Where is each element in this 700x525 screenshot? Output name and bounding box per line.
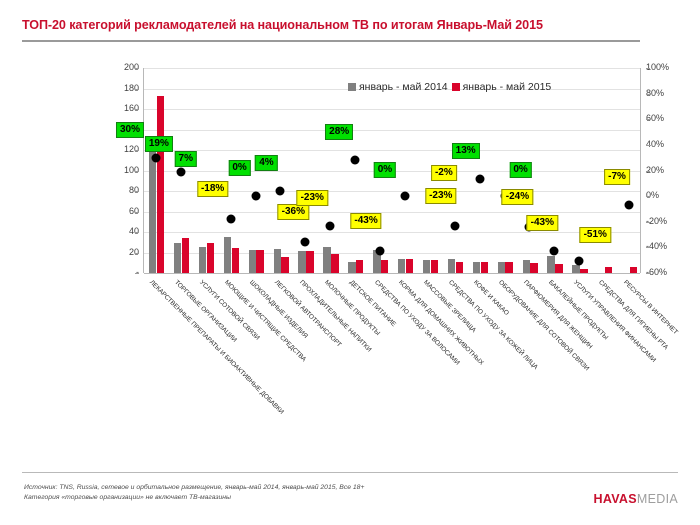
bar-cur bbox=[530, 263, 537, 273]
y2-axis-tick bbox=[646, 222, 650, 223]
bar-cur bbox=[505, 262, 512, 273]
y-axis-tick-label: 40 bbox=[99, 226, 139, 236]
bar-cur bbox=[182, 238, 189, 273]
growth-marker bbox=[226, 215, 235, 224]
y2-axis-tick bbox=[646, 145, 650, 146]
bar-prev bbox=[523, 260, 530, 273]
legend-swatch-2015 bbox=[452, 83, 460, 91]
bar-cur bbox=[356, 260, 363, 273]
bar-prev bbox=[423, 260, 430, 273]
y-axis-tick bbox=[135, 191, 139, 192]
y-axis-tick bbox=[135, 171, 139, 172]
legend-label-2014: январь - май 2014 bbox=[359, 81, 448, 93]
x-axis-label: ОБОРУДОВАНИЕ ДЛЯ СОТОВОЙ СВЯЗИ bbox=[497, 279, 590, 372]
y-axis-tick-label: 100 bbox=[99, 165, 139, 175]
growth-callout: 0% bbox=[509, 162, 531, 178]
bar-prev bbox=[274, 249, 281, 273]
y-axis-tick bbox=[135, 212, 139, 213]
growth-marker bbox=[575, 257, 584, 266]
bar-cur bbox=[481, 262, 488, 273]
x-axis-label: КОРМА ДЛЯ ДОМАШНИХ ЖИВОТНЫХ bbox=[397, 279, 485, 367]
x-axis-labels: ЛЕКАРСТВЕННЫЕ ПРЕПАРАТЫ И БИОАКТИВНЫЕ ДО… bbox=[0, 273, 700, 463]
growth-marker bbox=[276, 187, 285, 196]
growth-marker bbox=[376, 247, 385, 256]
page-title: ТОП-20 категорий рекламодателей на нацио… bbox=[22, 18, 672, 32]
growth-marker bbox=[301, 238, 310, 247]
bar-cur bbox=[381, 260, 388, 273]
y2-axis-tick-label: -40% bbox=[646, 241, 690, 251]
source-note: Источник: TNS, Russia, сетевое и орбитал… bbox=[24, 483, 584, 503]
footer-divider bbox=[22, 472, 678, 473]
bar-prev bbox=[398, 259, 405, 273]
y2-axis-tick bbox=[646, 196, 650, 197]
growth-marker bbox=[176, 167, 185, 176]
y-axis-tick-label: 20 bbox=[99, 247, 139, 257]
growth-callout: 28% bbox=[325, 124, 353, 140]
growth-callout: -43% bbox=[350, 213, 381, 229]
bar-cur bbox=[456, 262, 463, 273]
growth-callout: -51% bbox=[580, 227, 611, 243]
y2-axis-tick-label: 60% bbox=[646, 113, 690, 123]
y2-axis-tick bbox=[646, 247, 650, 248]
growth-callout: 7% bbox=[175, 151, 197, 167]
bar-cur bbox=[281, 257, 288, 273]
gridline bbox=[144, 68, 640, 69]
source-line-2: Категория «торговые организации» не вклю… bbox=[24, 493, 584, 503]
growth-marker bbox=[550, 247, 559, 256]
bar-cur bbox=[555, 264, 562, 273]
bar-cur bbox=[157, 96, 164, 273]
gridline bbox=[144, 232, 640, 233]
gridline bbox=[144, 130, 640, 131]
bar-prev bbox=[174, 243, 181, 273]
bar-cur bbox=[331, 254, 338, 273]
growth-marker bbox=[625, 201, 634, 210]
growth-callout: -23% bbox=[297, 190, 328, 206]
logo-havas: HAVAS bbox=[594, 492, 637, 506]
bar-prev bbox=[572, 265, 579, 273]
y-axis-tick bbox=[135, 150, 139, 151]
legend-item-2015: январь - май 2015 bbox=[452, 81, 552, 93]
y2-axis-tick bbox=[646, 171, 650, 172]
growth-callout: 0% bbox=[228, 160, 250, 176]
y-axis-tick bbox=[135, 253, 139, 254]
growth-callout: -7% bbox=[604, 169, 630, 185]
y-axis-right: 100%80%60%40%20%0%-20%-40%-60% bbox=[646, 68, 694, 273]
gridline bbox=[144, 253, 640, 254]
y-axis-tick-label: 60 bbox=[99, 206, 139, 216]
bar-prev bbox=[473, 262, 480, 273]
bar-cur bbox=[256, 250, 263, 273]
havas-media-logo: HAVASMEDIA bbox=[594, 492, 679, 506]
growth-callout: 19% bbox=[145, 136, 173, 152]
x-axis-label: СРЕДСТВА ПО УХОДУ ЗА ВОЛОСАМИ bbox=[373, 279, 461, 367]
y-axis-tick-label: 160 bbox=[99, 103, 139, 113]
bar-cur bbox=[207, 243, 214, 273]
growth-callout: -43% bbox=[527, 215, 558, 231]
logo-media: MEDIA bbox=[637, 492, 678, 506]
y2-axis-tick bbox=[646, 94, 650, 95]
bar-cur bbox=[306, 251, 313, 273]
legend-label-2015: январь - май 2015 bbox=[463, 81, 552, 93]
legend-swatch-2014 bbox=[348, 83, 356, 91]
y-axis-tick bbox=[135, 232, 139, 233]
growth-callout: -18% bbox=[197, 181, 228, 197]
bar-prev bbox=[498, 262, 505, 273]
bar-cur bbox=[232, 248, 239, 273]
x-axis-label: СРЕДСТВА ПО УХОДУ ЗА КОЖЕЙ ЛИЦА bbox=[447, 279, 539, 371]
growth-marker bbox=[151, 153, 160, 162]
growth-marker bbox=[351, 156, 360, 165]
gridline bbox=[144, 150, 640, 151]
growth-callout: 4% bbox=[255, 155, 277, 171]
growth-callout: 13% bbox=[452, 143, 480, 159]
growth-marker bbox=[450, 221, 459, 230]
growth-callout: -36% bbox=[278, 204, 309, 220]
bar-prev bbox=[199, 247, 206, 273]
y-axis-tick bbox=[135, 68, 139, 69]
y-axis-tick-label: 120 bbox=[99, 144, 139, 154]
y2-axis-tick-label: -20% bbox=[646, 216, 690, 226]
growth-marker bbox=[475, 175, 484, 184]
bar-prev bbox=[448, 259, 455, 273]
bar-cur bbox=[406, 259, 413, 273]
chart-legend: январь - май 2014 январь - май 2015 bbox=[348, 81, 551, 93]
growth-callout: 0% bbox=[374, 162, 396, 178]
growth-callout: -24% bbox=[502, 189, 533, 205]
y-axis-tick-label: 80 bbox=[99, 185, 139, 195]
bar-prev bbox=[249, 250, 256, 273]
title-divider bbox=[22, 40, 640, 42]
y2-axis-tick-label: 40% bbox=[646, 139, 690, 149]
growth-marker bbox=[251, 192, 260, 201]
plot-area: 30%19%7%-18%0%4%-36%-23%28%-43%0%-2%-23%… bbox=[143, 68, 641, 273]
bar-prev bbox=[224, 237, 231, 273]
growth-callout: 30% bbox=[116, 122, 144, 138]
y2-axis-tick-label: 20% bbox=[646, 165, 690, 175]
gridline bbox=[144, 212, 640, 213]
growth-callout: -2% bbox=[431, 165, 457, 181]
y-axis-left: 20018016014012010080604020- bbox=[95, 68, 139, 273]
bar-prev bbox=[323, 247, 330, 273]
y-axis-tick-label: 180 bbox=[99, 83, 139, 93]
y-axis-tick-label: 200 bbox=[99, 62, 139, 72]
growth-marker bbox=[326, 221, 335, 230]
y2-axis-tick-label: 80% bbox=[646, 88, 690, 98]
x-axis-label: ДЕТСКОЕ ПИТАНИЕ bbox=[348, 279, 397, 328]
y2-axis-tick bbox=[646, 68, 650, 69]
growth-callout: -23% bbox=[425, 188, 456, 204]
growth-marker bbox=[400, 192, 409, 201]
bar-cur bbox=[431, 260, 438, 273]
y2-axis-tick bbox=[646, 119, 650, 120]
bar-prev bbox=[547, 256, 554, 273]
bar-prev bbox=[298, 251, 305, 273]
chart-container: 20018016014012010080604020- 100%80%60%40… bbox=[0, 46, 700, 466]
y2-axis-tick-label: 0% bbox=[646, 190, 690, 200]
source-line-1: Источник: TNS, Russia, сетевое и орбитал… bbox=[24, 483, 584, 493]
y2-axis-tick-label: 100% bbox=[646, 62, 690, 72]
bar-prev bbox=[348, 262, 355, 273]
gridline bbox=[144, 109, 640, 110]
legend-item-2014: январь - май 2014 bbox=[348, 81, 448, 93]
y-axis-tick bbox=[135, 109, 139, 110]
y-axis-tick bbox=[135, 89, 139, 90]
